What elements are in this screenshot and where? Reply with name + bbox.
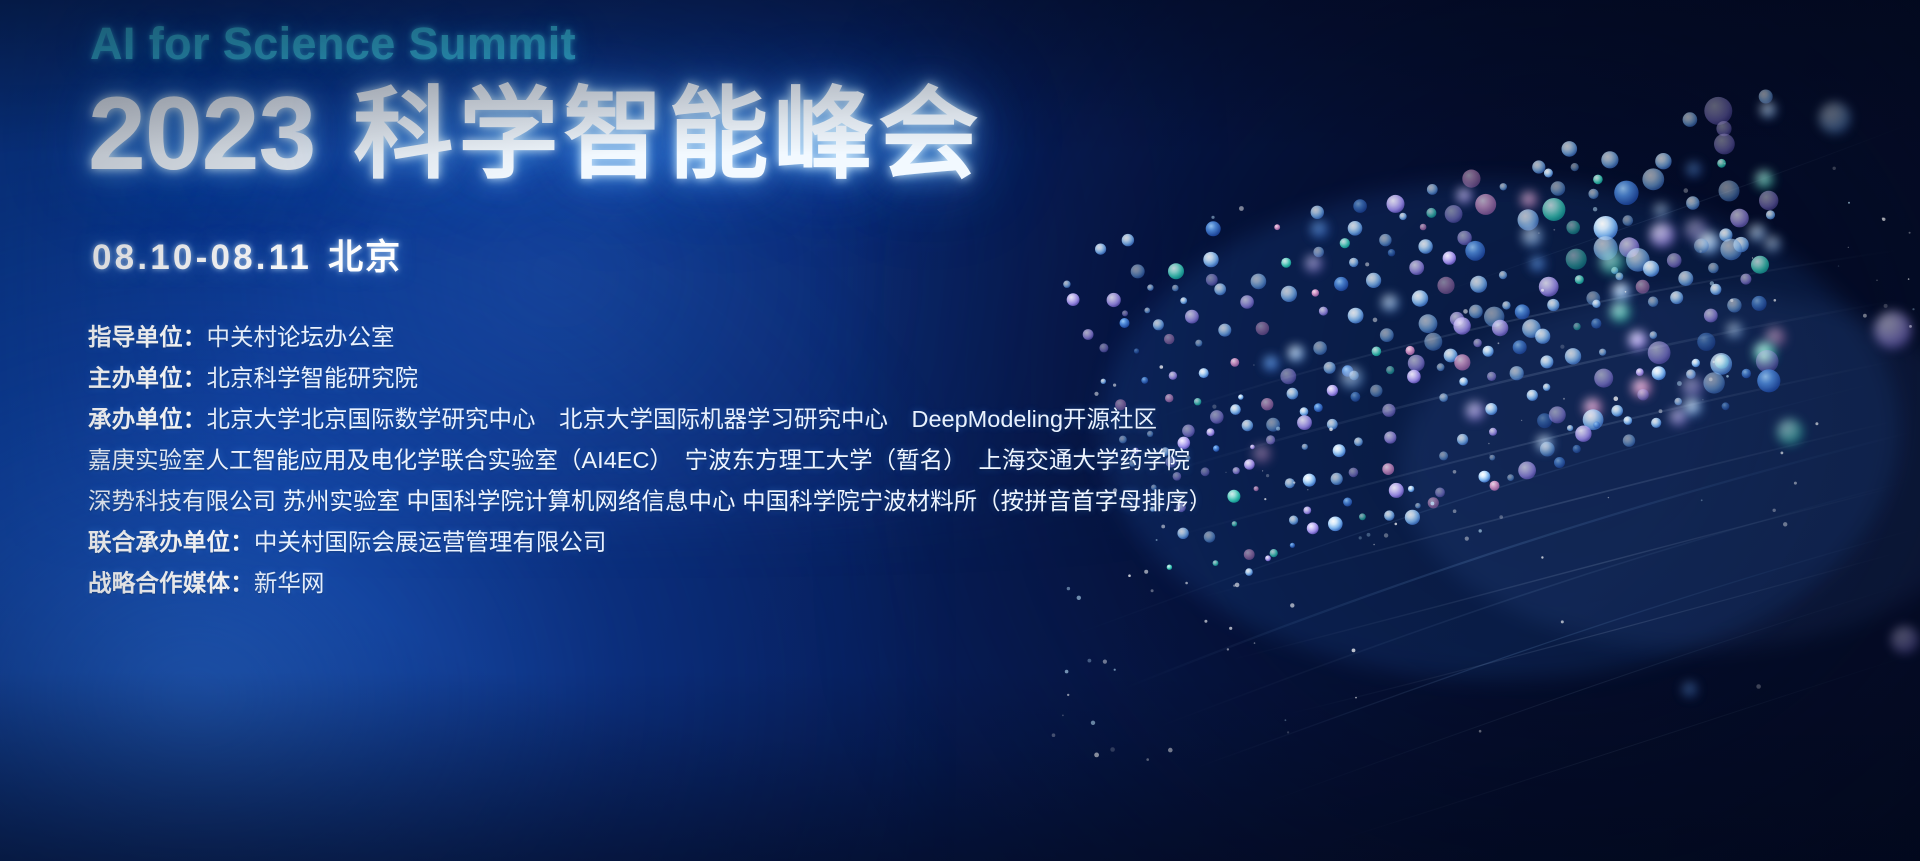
organizer-row: 主办单位：北京科学智能研究院 <box>88 358 1448 399</box>
organizer-label: 联合承办单位： <box>88 529 254 555</box>
organizer-list: 指导单位：中关村论坛办公室主办单位：北京科学智能研究院承办单位：北京大学北京国际… <box>88 317 1448 604</box>
organizer-row: 指导单位：中关村论坛办公室 <box>88 317 1448 358</box>
organizer-value: 北京科学智能研究院 <box>207 365 419 391</box>
organizer-label: 战略合作媒体： <box>88 570 254 596</box>
event-date: 08.10-08.11 <box>92 238 312 277</box>
organizer-label: 主办单位： <box>88 365 207 391</box>
title-chinese: 科学智能峰会 <box>353 85 983 185</box>
organizer-row-continuation: 深势科技有限公司 苏州实验室 中国科学院计算机网络信息中心 中国科学院宁波材料所… <box>88 481 1448 522</box>
organizer-value: 中关村国际会展运营管理有限公司 <box>254 529 607 555</box>
title-year: 2023 <box>88 82 315 186</box>
organizer-value: 中关村论坛办公室 <box>207 324 395 350</box>
organizer-value: 北京大学北京国际数学研究中心 北京大学国际机器学习研究中心 DeepModeli… <box>207 406 1158 432</box>
event-city: 北京 <box>328 238 402 277</box>
summit-poster: AI for Science Summit 2023 科学智能峰会 08.10-… <box>0 0 1920 861</box>
organizer-label: 承办单位： <box>88 406 207 432</box>
organizer-row-continuation: 嘉庚实验室人工智能应用及电化学联合实验室（AI4EC） 宁波东方理工大学（暂名）… <box>88 440 1448 481</box>
page-title: 2023 科学智能峰会 <box>88 82 983 186</box>
date-location: 08.10-08.11北京 <box>92 229 402 280</box>
eyebrow-title: AI for Science Summit <box>90 18 576 70</box>
organizer-row: 战略合作媒体：新华网 <box>88 563 1448 604</box>
organizer-row: 承办单位：北京大学北京国际数学研究中心 北京大学国际机器学习研究中心 DeepM… <box>88 399 1448 440</box>
organizer-value: 新华网 <box>254 570 325 596</box>
organizer-row: 联合承办单位：中关村国际会展运营管理有限公司 <box>88 522 1448 563</box>
poster-content: AI for Science Summit 2023 科学智能峰会 08.10-… <box>88 0 1488 861</box>
organizer-label: 指导单位： <box>88 324 207 350</box>
